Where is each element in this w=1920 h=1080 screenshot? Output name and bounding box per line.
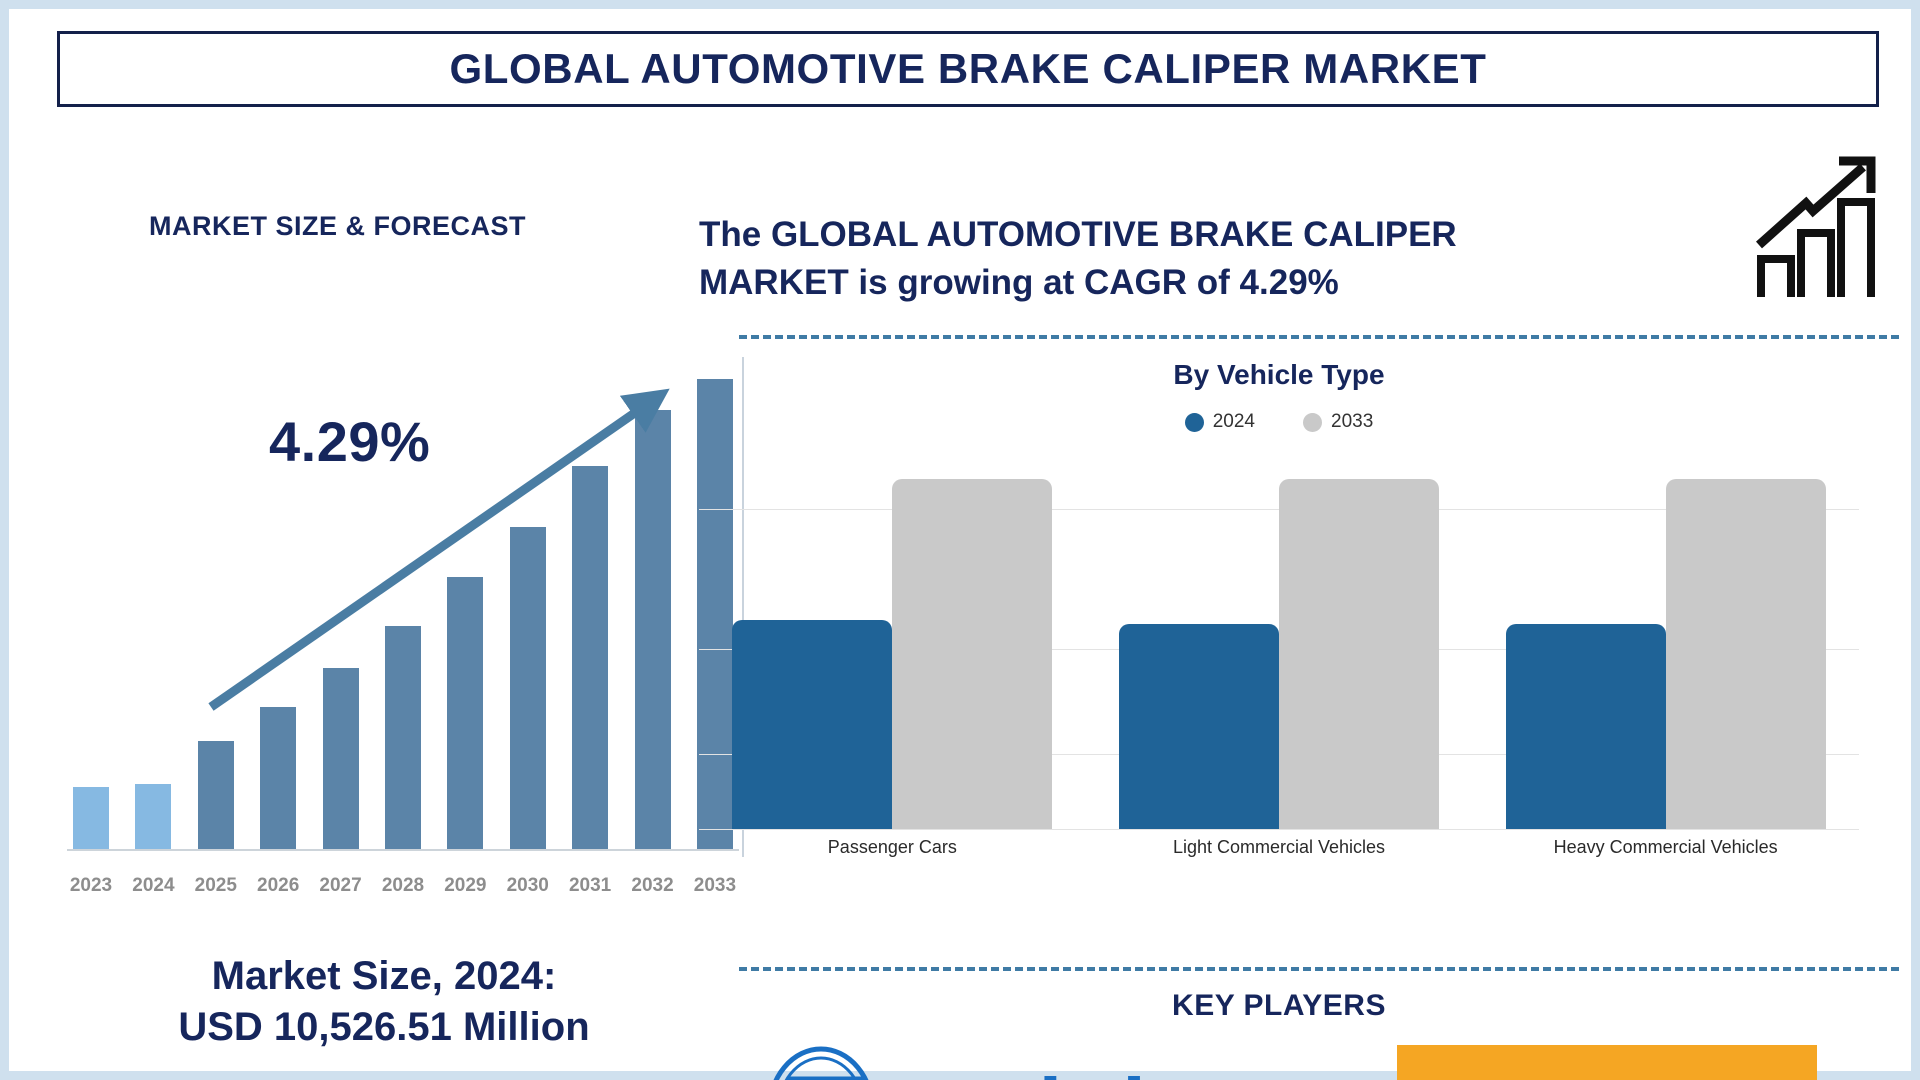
vehicle-type-bar (1666, 479, 1826, 829)
forecast-bar-column (67, 379, 115, 849)
market-size-callout: Market Size, 2024: USD 10,526.51 Million (29, 951, 739, 1053)
vehicle-type-category-label: Passenger Cars (727, 837, 1057, 858)
forecast-bar-column (504, 379, 552, 849)
forecast-year-label: 2024 (129, 875, 177, 897)
forecast-bar-column (129, 379, 177, 849)
vehicle-type-bar (1506, 624, 1666, 829)
forecast-year-label: 2028 (379, 875, 427, 897)
forecast-year-label: 2025 (192, 875, 240, 897)
forecast-bar (510, 527, 546, 849)
vehicle-type-bar-group (727, 449, 1057, 829)
vehicle-type-category-label: Light Commercial Vehicles (1114, 837, 1444, 858)
infographic-page: GLOBAL AUTOMOTIVE BRAKE CALIPER MARKET M… (0, 0, 1920, 1080)
market-size-forecast-label: MARKET SIZE & FORECAST (149, 211, 526, 242)
by-vehicle-type-title: By Vehicle Type (699, 359, 1859, 391)
forecast-bar (385, 626, 421, 849)
logo-akebono: akebono (984, 1050, 1314, 1080)
growth-bar-chart-arrow-icon (1751, 147, 1886, 302)
forecast-year-label: 2023 (67, 875, 115, 897)
cagr-statement: The GLOBAL AUTOMOTIVE BRAKE CALIPER MARK… (699, 211, 1699, 308)
zf-logo-icon (741, 1045, 901, 1080)
forecast-year-label: 2030 (504, 875, 552, 897)
forecast-bars-container (67, 379, 739, 849)
cagr-statement-line-1: The GLOBAL AUTOMOTIVE BRAKE CALIPER (699, 211, 1699, 259)
legend-swatch-icon (1303, 413, 1322, 432)
logo-continental: Continental (1397, 1045, 1817, 1080)
legend-item: 2033 (1303, 411, 1373, 433)
vehicle-type-legend: 20242033 (699, 411, 1859, 433)
forecast-year-label: 2026 (254, 875, 302, 897)
left-panel: MARKET SIZE & FORECAST 4.29% 20232024202… (29, 129, 739, 1059)
vehicle-type-bar (1279, 479, 1439, 829)
forecast-bar-column (192, 379, 240, 849)
forecast-bar (135, 784, 171, 849)
right-panel: The GLOBAL AUTOMOTIVE BRAKE CALIPER MARK… (699, 129, 1904, 1074)
key-players-title: KEY PLAYERS (699, 989, 1859, 1023)
forecast-year-label: 2027 (317, 875, 365, 897)
logo-zf (741, 1045, 901, 1080)
vehicle-type-chart: Passenger CarsLight Commercial VehiclesH… (699, 449, 1859, 869)
forecast-bar-column (441, 379, 489, 849)
key-players-logos: akebono Continental (699, 1037, 1859, 1080)
forecast-year-label: 2032 (629, 875, 677, 897)
forecast-bar-column (254, 379, 302, 849)
market-size-line-1: Market Size, 2024: (29, 951, 739, 1002)
title-box: GLOBAL AUTOMOTIVE BRAKE CALIPER MARKET (57, 31, 1879, 107)
akebono-wordmark: akebono (997, 1072, 1301, 1080)
divider-dashed-bottom (739, 967, 1899, 971)
legend-item: 2024 (1185, 411, 1255, 433)
market-size-forecast-chart: 2023202420252026202720282029203020312032… (49, 359, 739, 969)
gridline-axis (699, 829, 1859, 830)
forecast-bar (260, 707, 296, 849)
forecast-bar (447, 577, 483, 849)
vehicle-type-bar (892, 479, 1052, 829)
forecast-year-label: 2029 (441, 875, 489, 897)
forecast-bar-column (317, 379, 365, 849)
forecast-bar-column (379, 379, 427, 849)
vehicle-type-category-labels: Passenger CarsLight Commercial VehiclesH… (699, 837, 1859, 858)
forecast-bar (198, 741, 234, 849)
divider-dashed-top (739, 335, 1899, 339)
vehicle-type-bars-container (699, 449, 1859, 829)
forecast-bar (73, 787, 109, 849)
vehicle-type-bar (1119, 624, 1279, 829)
legend-swatch-icon (1185, 413, 1204, 432)
forecast-bar (323, 668, 359, 849)
forecast-year-label: 2031 (566, 875, 614, 897)
vehicle-type-category-label: Heavy Commercial Vehicles (1501, 837, 1831, 858)
forecast-bar (635, 410, 671, 849)
page-title: GLOBAL AUTOMOTIVE BRAKE CALIPER MARKET (449, 45, 1486, 93)
forecast-bar-column (566, 379, 614, 849)
forecast-bar-column (629, 379, 677, 849)
vehicle-type-bar (732, 620, 892, 829)
cagr-statement-line-2: MARKET is growing at CAGR of 4.29% (699, 259, 1699, 307)
vehicle-type-bar-group (1114, 449, 1444, 829)
vehicle-type-bar-group (1501, 449, 1831, 829)
legend-label: 2024 (1213, 411, 1255, 433)
forecast-axis-line (67, 849, 739, 851)
market-size-line-2: USD 10,526.51 Million (29, 1002, 739, 1053)
forecast-year-labels: 2023202420252026202720282029203020312032… (67, 875, 739, 897)
forecast-bar (572, 466, 608, 849)
legend-label: 2033 (1331, 411, 1373, 433)
